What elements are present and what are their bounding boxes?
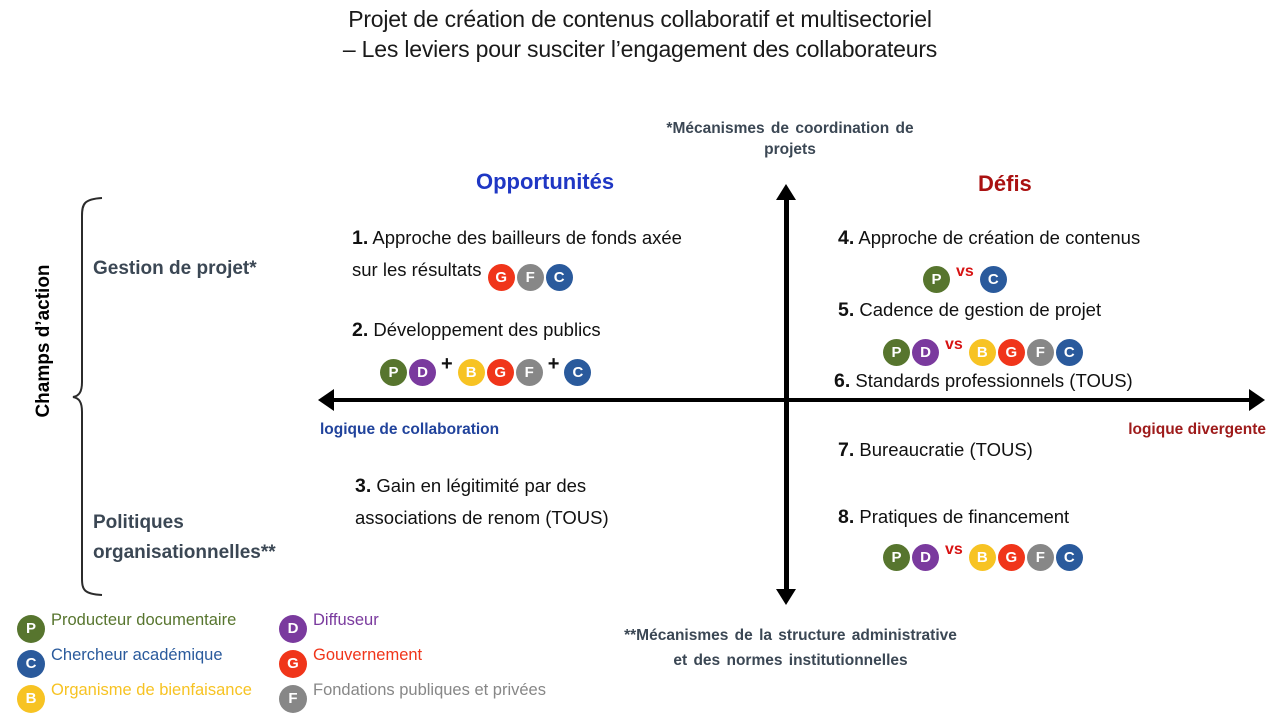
quadrant-header-opportunites: Opportunités bbox=[476, 169, 614, 195]
legend-item-P: PProducteur documentaire bbox=[16, 606, 236, 643]
legend-label-F: Fondations publiques et privées bbox=[313, 681, 546, 699]
vertical-axis-down-arrow-icon bbox=[776, 589, 796, 605]
item-1: 1. Approche des bailleurs de fonds axée … bbox=[352, 222, 772, 291]
badge-G: G bbox=[998, 544, 1025, 571]
item-5-badges: PDvsBGFC bbox=[882, 329, 1084, 366]
legend-item-C: CChercheur académique bbox=[16, 641, 223, 678]
vertical-axis-top-note: *Mécanismes de coordination de projets bbox=[650, 118, 930, 160]
legend-row: CChercheur académique GGouvernement bbox=[16, 641, 596, 676]
badge-B: B bbox=[969, 544, 996, 571]
quadrant-header-defis: Défis bbox=[978, 171, 1032, 197]
item-5-number: 5. bbox=[838, 299, 854, 321]
item-3-text-line-1: Gain en légitimité par des bbox=[371, 475, 586, 496]
badge-C: C bbox=[1056, 544, 1083, 571]
vs-label: vs bbox=[956, 263, 974, 280]
item-7: 7. Bureaucratie (TOUS) bbox=[838, 434, 1238, 466]
item-5: 5. Cadence de gestion de projet bbox=[838, 294, 1238, 326]
legend-label-P: Producteur documentaire bbox=[51, 611, 236, 629]
badge-C: C bbox=[564, 359, 591, 386]
badge-P: P bbox=[380, 359, 407, 386]
vertical-axis-up-arrow-icon bbox=[776, 184, 796, 200]
plus-sign: + bbox=[548, 353, 560, 375]
horizontal-axis-line bbox=[330, 398, 1255, 402]
badge-F: F bbox=[517, 264, 544, 291]
item-4-text-line-1: Approche de création de contenus bbox=[854, 227, 1140, 248]
vs-label: vs bbox=[945, 541, 963, 558]
item-5-text-line-1: Cadence de gestion de projet bbox=[854, 299, 1101, 320]
legend-item-G: GGouvernement bbox=[278, 641, 422, 678]
axis-group-title-champs-action: Champs d’action bbox=[33, 251, 55, 431]
item-2: 2. Développement des publics bbox=[352, 314, 772, 346]
badge-G: G bbox=[487, 359, 514, 386]
badge-C: C bbox=[17, 650, 45, 678]
badge-G: G bbox=[488, 264, 515, 291]
badge-F: F bbox=[1027, 544, 1054, 571]
item-2-text-line-1: Développement des publics bbox=[368, 319, 600, 340]
item-6-text-line-1: Standards professionnels (TOUS) bbox=[850, 370, 1132, 391]
item-6-number: 6. bbox=[834, 370, 850, 392]
badge-B: B bbox=[969, 339, 996, 366]
vertical-axis-line bbox=[784, 199, 789, 591]
badge-D: D bbox=[279, 615, 307, 643]
page-title-line-2: – Les leviers pour susciter l’engagement… bbox=[200, 34, 1080, 64]
item-7-number: 7. bbox=[838, 439, 854, 461]
item-3: 3. Gain en légitimité par des associatio… bbox=[355, 470, 755, 534]
badge-D: D bbox=[912, 544, 939, 571]
horizontal-axis-left-arrow-icon bbox=[318, 389, 334, 411]
legend-item-B: BOrganisme de bienfaisance bbox=[16, 676, 252, 713]
badge-B: B bbox=[458, 359, 485, 386]
badge-F: F bbox=[1027, 339, 1054, 366]
vertical-axis-bottom-note: **Mécanismes de la structure administrat… bbox=[618, 623, 963, 673]
vs-label: vs bbox=[945, 336, 963, 353]
item-1-number: 1. bbox=[352, 227, 368, 249]
item-1-text-line-2: sur les résultats bbox=[352, 259, 487, 280]
badge-G: G bbox=[998, 339, 1025, 366]
legend-label-G: Gouvernement bbox=[313, 646, 422, 664]
badge-D: D bbox=[912, 339, 939, 366]
horizontal-axis-left-label: logique de collaboration bbox=[320, 421, 499, 439]
badge-D: D bbox=[409, 359, 436, 386]
legend-item-D: DDiffuseur bbox=[278, 606, 379, 643]
badge-P: P bbox=[17, 615, 45, 643]
item-4-badges: PvsC bbox=[922, 256, 1008, 293]
item-8: 8. Pratiques de financement bbox=[838, 501, 1238, 533]
page-title: Projet de création de contenus collabora… bbox=[200, 4, 1080, 64]
badge-C: C bbox=[980, 266, 1007, 293]
badge-B: B bbox=[17, 685, 45, 713]
item-1-text-line-1: Approche des bailleurs de fonds axée bbox=[368, 227, 682, 248]
axis-group-label-gestion-de-projet: Gestion de projet* bbox=[93, 258, 257, 280]
axis-group-label-politiques-organisationnelles: Politiques organisationnelles** bbox=[93, 508, 343, 568]
page-title-line-1: Projet de création de contenus collabora… bbox=[200, 4, 1080, 34]
badge-F: F bbox=[516, 359, 543, 386]
legend-row: PProducteur documentaire DDiffuseur bbox=[16, 606, 596, 641]
item-8-badges: PDvsBGFC bbox=[882, 534, 1084, 571]
badge-C: C bbox=[546, 264, 573, 291]
item-2-number: 2. bbox=[352, 319, 368, 341]
item-6: 6. Standards professionnels (TOUS) bbox=[834, 365, 1254, 397]
item-8-number: 8. bbox=[838, 506, 854, 528]
legend-row: BOrganisme de bienfaisance FFondations p… bbox=[16, 676, 596, 711]
item-8-text-line-1: Pratiques de financement bbox=[854, 506, 1069, 527]
item-7-text-line-1: Bureaucratie (TOUS) bbox=[854, 439, 1033, 460]
legend-label-C: Chercheur académique bbox=[51, 646, 223, 664]
badge-P: P bbox=[923, 266, 950, 293]
item-2-badges: PD+BGF+C bbox=[379, 348, 592, 386]
item-3-text-line-2: associations de renom (TOUS) bbox=[355, 507, 609, 528]
plus-sign: + bbox=[441, 353, 453, 375]
legend: PProducteur documentaire DDiffuseur CChe… bbox=[16, 606, 596, 711]
item-4-number: 4. bbox=[838, 227, 854, 249]
item-4: 4. Approche de création de contenus bbox=[838, 222, 1238, 254]
item-3-number: 3. bbox=[355, 475, 371, 497]
badge-G: G bbox=[279, 650, 307, 678]
badge-C: C bbox=[1056, 339, 1083, 366]
legend-item-F: FFondations publiques et privées bbox=[278, 676, 546, 713]
badge-P: P bbox=[883, 339, 910, 366]
badge-F: F bbox=[279, 685, 307, 713]
badge-P: P bbox=[883, 544, 910, 571]
legend-label-B: Organisme de bienfaisance bbox=[51, 681, 252, 699]
legend-label-D: Diffuseur bbox=[313, 611, 379, 629]
